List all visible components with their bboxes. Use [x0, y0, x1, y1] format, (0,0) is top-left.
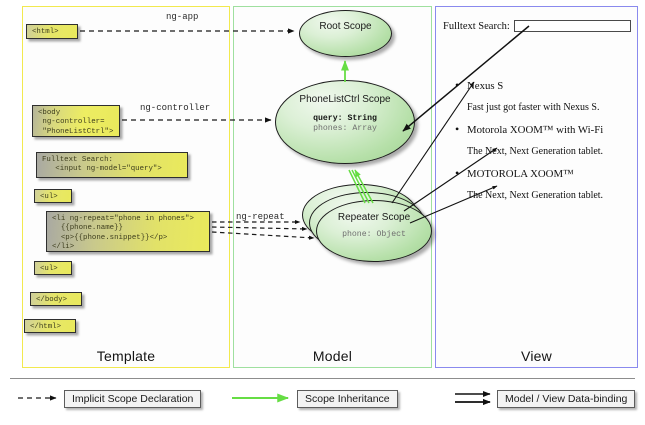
template-node-ul-close: <ul> [34, 261, 72, 275]
scope-prop-phones: phones: Array [276, 124, 414, 134]
phone-name: Motorola XOOM™ with Wi-Fi [453, 123, 633, 138]
list-item: Nexus S Fast just got faster with Nexus … [453, 79, 633, 115]
phone-name: MOTOROLA XOOM™ [453, 167, 633, 182]
view-content: Fulltext Search: Nexus S Fast just got f… [441, 12, 633, 362]
view-search-row: Fulltext Search: [443, 20, 631, 32]
scope-root: Root Scope [299, 10, 392, 57]
edge-label-ng-app: ng-app [166, 12, 198, 22]
scope-prop-query: query: String [276, 114, 414, 124]
list-item: MOTOROLA XOOM™ The Next, Next Generation… [453, 167, 633, 203]
view-phone-list: Nexus S Fast just got faster with Nexus … [453, 79, 633, 211]
phone-snippet: Fast just got faster with Nexus S. [453, 100, 633, 115]
view-search-input[interactable] [514, 20, 631, 32]
panel-template: Template [22, 6, 230, 368]
template-node-html-close: </html> [24, 319, 76, 333]
diagram-canvas: Template Model View <html> <body ng-cont… [0, 0, 645, 425]
legend-label-scope-inheritance: Scope Inheritance [297, 390, 398, 408]
edge-label-ng-controller: ng-controller [140, 103, 210, 113]
scope-phonelistctrl-title: PhoneListCtrl Scope [276, 94, 414, 106]
phone-snippet: The Next, Next Generation tablet. [453, 188, 633, 203]
view-search-label: Fulltext Search: [443, 21, 510, 32]
template-node-li-ng-repeat: <li ng-repeat="phone in phones"> {{phone… [46, 211, 210, 252]
template-node-body-open: <body ng-controller= "PhoneListCtrl"> [32, 105, 120, 137]
scope-phonelistctrl: PhoneListCtrl Scope query: String phones… [275, 80, 415, 164]
edge-label-ng-repeat: ng-repeat [236, 212, 285, 222]
legend-divider [10, 378, 635, 379]
legend-label-model-view-data-binding: Model / View Data-binding [497, 390, 635, 408]
template-node-search-input: Fulltext Search: <input ng-model="query"… [36, 152, 188, 178]
template-node-html-open: <html> [26, 24, 78, 39]
list-item: Motorola XOOM™ with Wi-Fi The Next, Next… [453, 123, 633, 159]
phone-name: Nexus S [453, 79, 633, 94]
legend-label-implicit-scope-declaration: Implicit Scope Declaration [64, 390, 201, 408]
scope-phonelistctrl-props: query: String phones: Array [276, 114, 414, 134]
panel-template-label: Template [23, 348, 229, 364]
legend-arrow-binding [455, 394, 490, 402]
scope-root-title: Root Scope [300, 21, 391, 33]
panel-model-label: Model [234, 348, 431, 364]
template-node-ul-open: <ul> [34, 189, 72, 203]
scope-prop-phone: phone: Object [317, 230, 431, 240]
template-node-body-close: </body> [30, 292, 82, 306]
scope-repeater: Repeater Scope phone: Object [316, 200, 432, 262]
scope-repeater-title: Repeater Scope [317, 212, 431, 224]
phone-snippet: The Next, Next Generation tablet. [453, 144, 633, 159]
scope-repeater-props: phone: Object [317, 230, 431, 240]
